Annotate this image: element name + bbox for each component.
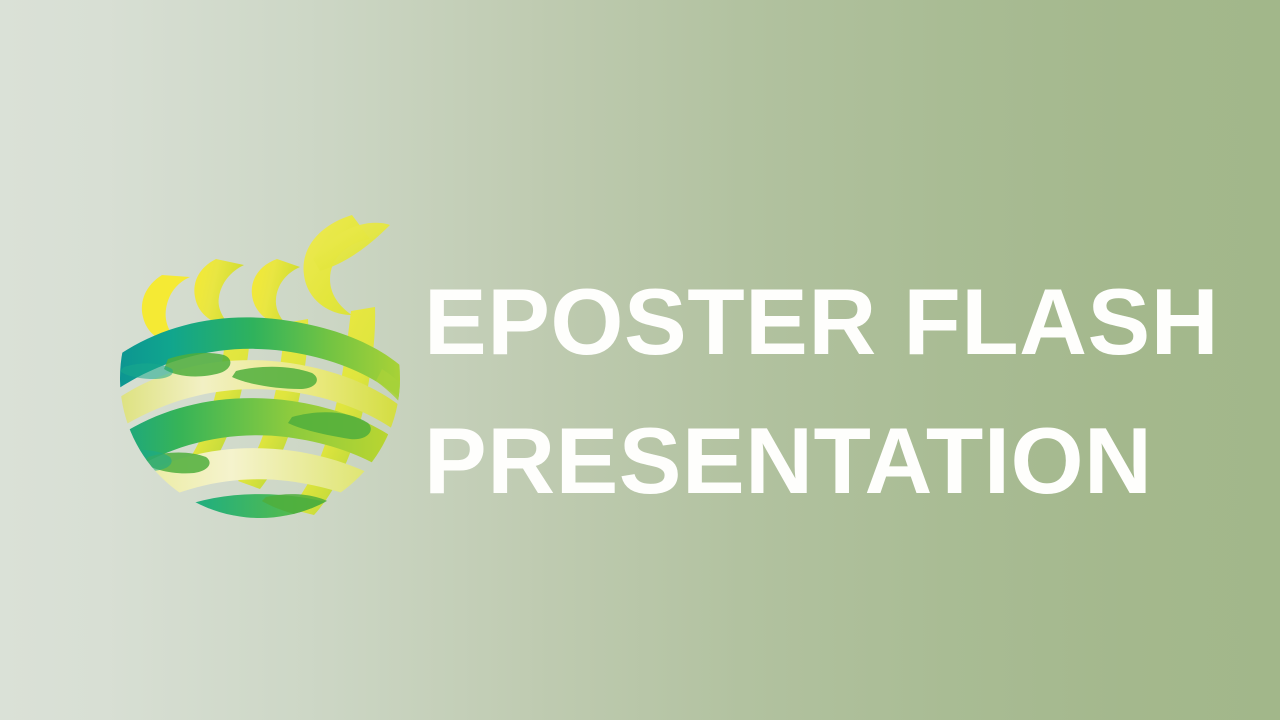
page-title: EPOSTER FLASH PRESENTATION xyxy=(424,252,1224,530)
title-line-2: PRESENTATION xyxy=(424,391,1224,530)
ribbon-globe-logo xyxy=(114,203,406,521)
ribbon-bands xyxy=(114,317,406,521)
title-slide: EPOSTER FLASH PRESENTATION xyxy=(0,0,1280,720)
ribbon-globe-graphic xyxy=(114,203,406,521)
title-line-1: EPOSTER FLASH xyxy=(424,252,1224,391)
